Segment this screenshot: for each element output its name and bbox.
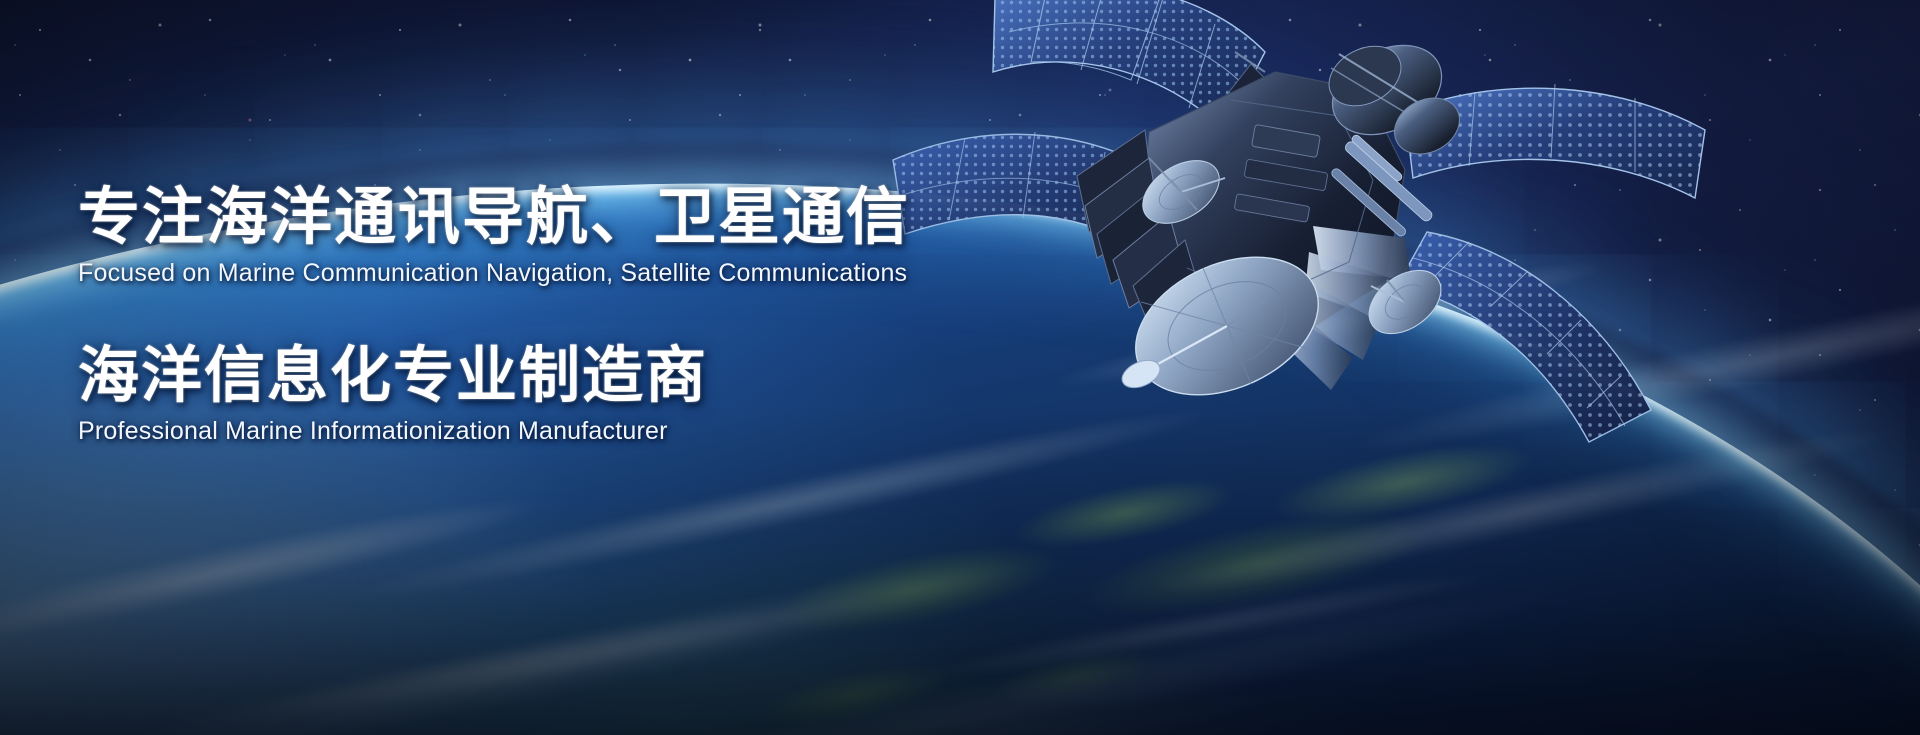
banner-copy: 专注海洋通讯导航、卫星通信 Focused on Marine Communic… [78,186,1078,446]
headline-secondary-en: Professional Marine Informationization M… [78,417,1078,446]
hero-banner: 专注海洋通讯导航、卫星通信 Focused on Marine Communic… [0,0,1920,735]
headline-primary-en: Focused on Marine Communication Navigati… [78,259,1078,288]
headline-block-secondary: 海洋信息化专业制造商 Professional Marine Informati… [78,344,1078,445]
headline-block-primary: 专注海洋通讯导航、卫星通信 Focused on Marine Communic… [78,186,1078,288]
solar-panel-lower-right [1397,232,1651,442]
headline-primary-cn: 专注海洋通讯导航、卫星通信 [78,186,1078,250]
headline-secondary-cn: 海洋信息化专业制造商 [78,344,1078,407]
